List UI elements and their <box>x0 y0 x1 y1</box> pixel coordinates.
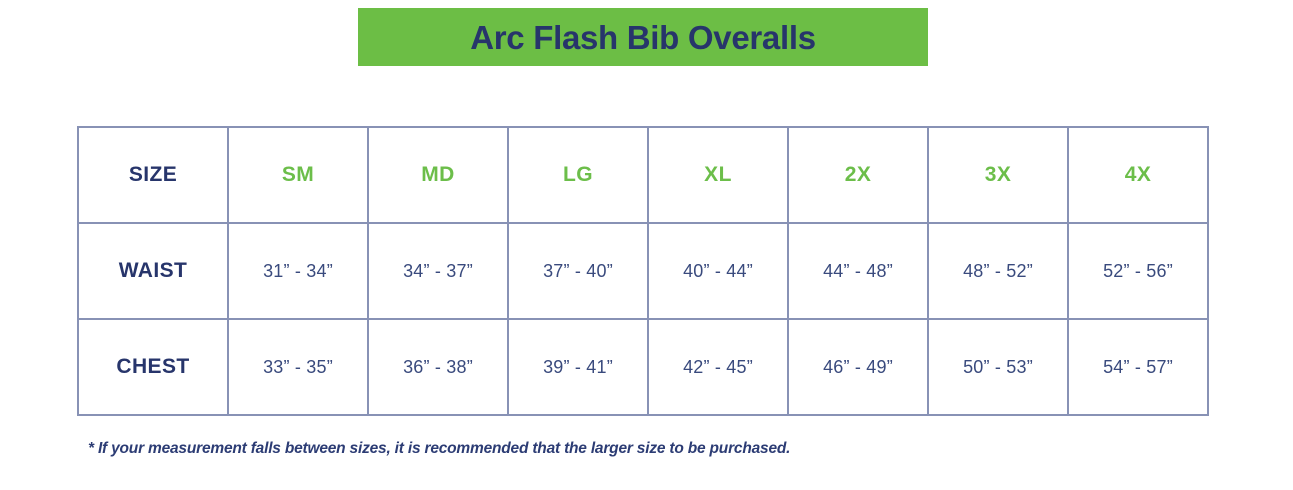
cell-value: 33” - 35” <box>263 357 333 377</box>
row-label-text: WAIST <box>119 259 188 282</box>
header-label-xl: XL <box>704 163 732 186</box>
header-cell-2x: 2X <box>788 127 928 223</box>
cell-value: 39” - 41” <box>543 357 613 377</box>
header-cell-xl: XL <box>648 127 788 223</box>
header-label-lg: LG <box>563 163 593 186</box>
header-label-sm: SM <box>282 163 314 186</box>
cell-value: 36” - 38” <box>403 357 473 377</box>
cell-waist-xl: 40” - 44” <box>648 223 788 319</box>
cell-chest-2x: 46” - 49” <box>788 319 928 415</box>
cell-value: 42” - 45” <box>683 357 753 377</box>
header-cell-sm: SM <box>228 127 368 223</box>
cell-value: 37” - 40” <box>543 261 613 281</box>
row-label-waist: WAIST <box>78 223 228 319</box>
cell-value: 54” - 57” <box>1103 357 1173 377</box>
header-label-3x: 3X <box>985 163 1012 186</box>
cell-value: 31” - 34” <box>263 261 333 281</box>
cell-waist-lg: 37” - 40” <box>508 223 648 319</box>
table-row: CHEST 33” - 35” 36” - 38” 39” - 41” 42” … <box>78 319 1208 415</box>
header-label-2x: 2X <box>845 163 872 186</box>
page-title: Arc Flash Bib Overalls <box>470 21 816 54</box>
header-cell-size: SIZE <box>78 127 228 223</box>
cell-value: 46” - 49” <box>823 357 893 377</box>
cell-chest-md: 36” - 38” <box>368 319 508 415</box>
cell-waist-4x: 52” - 56” <box>1068 223 1208 319</box>
header-label-size: SIZE <box>129 163 177 186</box>
cell-waist-3x: 48” - 52” <box>928 223 1068 319</box>
cell-chest-sm: 33” - 35” <box>228 319 368 415</box>
cell-waist-md: 34” - 37” <box>368 223 508 319</box>
cell-waist-sm: 31” - 34” <box>228 223 368 319</box>
header-cell-4x: 4X <box>1068 127 1208 223</box>
cell-value: 34” - 37” <box>403 261 473 281</box>
cell-waist-2x: 44” - 48” <box>788 223 928 319</box>
cell-value: 48” - 52” <box>963 261 1033 281</box>
row-label-chest: CHEST <box>78 319 228 415</box>
header-label-4x: 4X <box>1125 163 1152 186</box>
header-cell-3x: 3X <box>928 127 1068 223</box>
cell-chest-xl: 42” - 45” <box>648 319 788 415</box>
header-label-md: MD <box>421 163 454 186</box>
cell-value: 44” - 48” <box>823 261 893 281</box>
cell-chest-3x: 50” - 53” <box>928 319 1068 415</box>
cell-value: 52” - 56” <box>1103 261 1173 281</box>
table-row: WAIST 31” - 34” 34” - 37” 37” - 40” 40” … <box>78 223 1208 319</box>
cell-chest-lg: 39” - 41” <box>508 319 648 415</box>
cell-chest-4x: 54” - 57” <box>1068 319 1208 415</box>
cell-value: 40” - 44” <box>683 261 753 281</box>
table-header-row: SIZE SM MD LG XL 2X 3X 4X <box>78 127 1208 223</box>
header-cell-md: MD <box>368 127 508 223</box>
footnote-text: * If your measurement falls between size… <box>88 440 790 458</box>
header-cell-lg: LG <box>508 127 648 223</box>
cell-value: 50” - 53” <box>963 357 1033 377</box>
size-chart-table: SIZE SM MD LG XL 2X 3X 4X <box>77 126 1209 416</box>
title-banner: Arc Flash Bib Overalls <box>358 8 928 66</box>
row-label-text: CHEST <box>116 355 189 378</box>
